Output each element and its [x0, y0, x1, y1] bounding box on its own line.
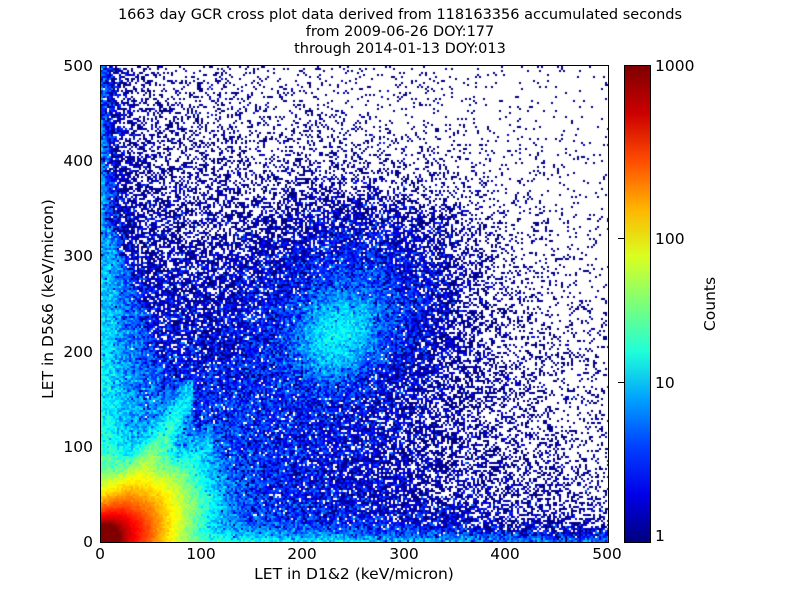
colorbar-tick-label-1: 1	[655, 527, 665, 545]
figure-canvas: 1663 day GCR cross plot data derived fro…	[0, 0, 800, 600]
title-line-1: 1663 day GCR cross plot data derived fro…	[0, 7, 800, 24]
colorbar-gradient	[625, 66, 650, 542]
colorbar-tickmark-100	[618, 238, 625, 239]
density-heatmap	[101, 66, 608, 542]
plot-title: 1663 day GCR cross plot data derived fro…	[0, 7, 800, 58]
y-axis-label: LET in D5&6 (keV/micron)	[39, 134, 57, 464]
xtick-label-3: 300	[374, 545, 434, 563]
colorbar-tickmark-10	[618, 382, 625, 383]
ytick-label-5: 500	[41, 57, 93, 75]
colorbar-tick-label-100: 100	[655, 230, 685, 248]
xtick-label-1: 100	[171, 545, 231, 563]
title-line-2: from 2009-06-26 DOY:177	[0, 24, 800, 41]
xtick-label-4: 400	[475, 545, 535, 563]
plot-area	[100, 65, 609, 543]
x-axis-label: LET in D1&2 (keV/micron)	[100, 565, 608, 583]
colorbar-tick-label-1000: 1000	[655, 57, 694, 75]
xtick-label-2: 200	[272, 545, 332, 563]
colorbar	[624, 65, 651, 543]
colorbar-label: Counts	[701, 194, 719, 414]
ytick-label-0: 0	[41, 533, 93, 551]
colorbar-tick-label-10: 10	[655, 374, 675, 392]
xtick-label-5: 500	[577, 545, 637, 563]
title-line-3: through 2014-01-13 DOY:013	[0, 41, 800, 58]
